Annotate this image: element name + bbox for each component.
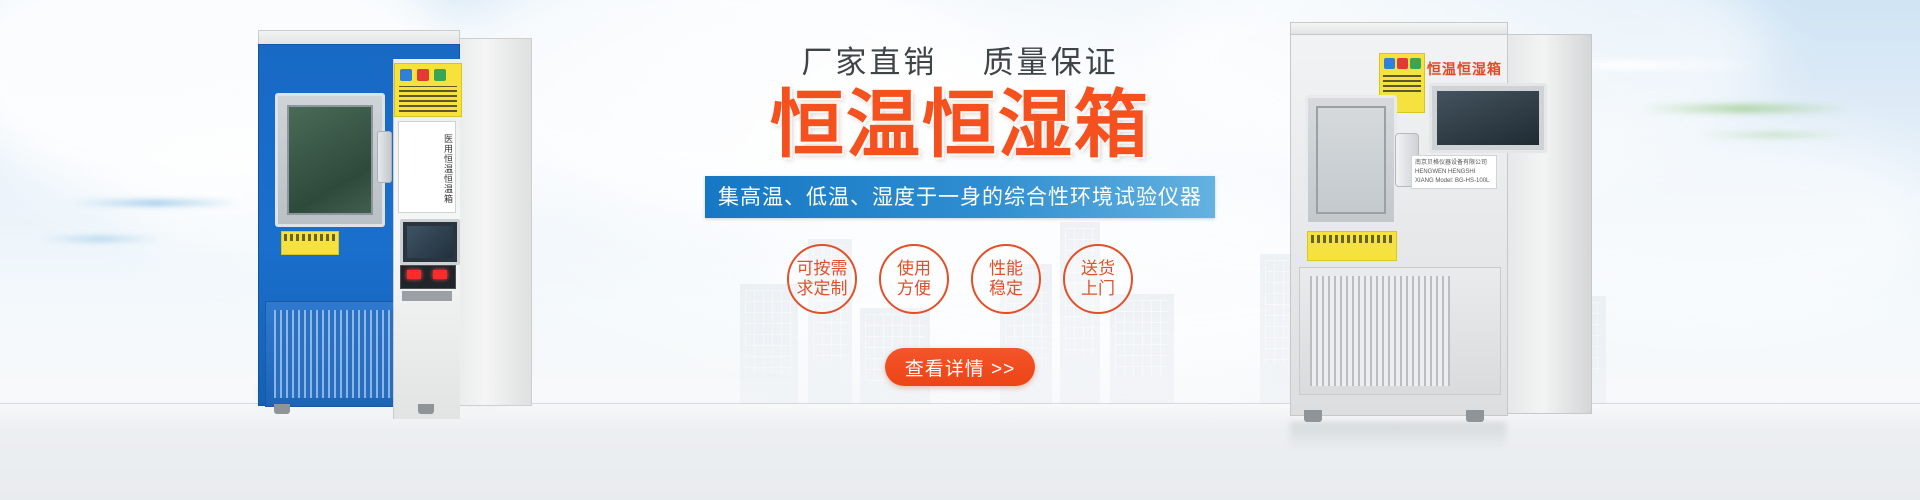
feature-badge[interactable]: 送货 上门 [1063, 244, 1133, 314]
right-machine-brand-label: 恒温恒湿箱 [1427, 59, 1545, 79]
badge-line-2: 上门 [1081, 279, 1115, 299]
left-machine-led-readout [400, 265, 456, 289]
left-machine-body: 医用恒温恒温箱 [258, 44, 460, 406]
wind-streak-decor [70, 200, 240, 206]
badge-line-1: 送货 [1081, 259, 1115, 279]
wind-streak-decor [40, 236, 160, 242]
badge-line-1: 性能 [989, 259, 1023, 279]
feature-badge-list: 可按需 求定制 使用 方便 性能 稳定 送货 上门 [700, 244, 1220, 314]
right-machine-window [1316, 106, 1386, 214]
left-machine-panel-label: 医用恒温恒温箱 [398, 121, 456, 213]
left-machine-footer-label [402, 291, 452, 301]
view-details-button[interactable]: 查看详情 >> [885, 348, 1035, 386]
left-machine-window [287, 105, 373, 215]
left-machine-display-screen [400, 219, 460, 265]
product-image-right: 恒温恒湿箱 南京贝格仪器设备有限公司 HENGWEN HENGSHI XIANG… [1290, 22, 1590, 422]
banner-subtitle: 集高温、低温、湿度于一身的综合性环境试验仪器 [705, 176, 1215, 218]
right-machine-warning-sticker [1307, 231, 1397, 261]
product-image-left: 医用恒温恒温箱 [258, 30, 530, 404]
badge-line-1: 可按需 [797, 259, 848, 279]
right-machine-door [1305, 95, 1397, 225]
badge-line-2: 求定制 [797, 279, 848, 299]
feature-badge[interactable]: 可按需 求定制 [787, 244, 857, 314]
feature-badge[interactable]: 性能 稳定 [971, 244, 1041, 314]
left-machine-warning-sticker [281, 231, 339, 255]
badge-line-1: 使用 [897, 259, 931, 279]
right-machine-body: 恒温恒湿箱 南京贝格仪器设备有限公司 HENGWEN HENGSHI XIANG… [1290, 34, 1508, 416]
right-machine-spec-tag: 南京贝格仪器设备有限公司 HENGWEN HENGSHI XIANG Model… [1411, 155, 1497, 189]
badge-line-2: 稳定 [989, 279, 1023, 299]
kicker-left-text: 厂家直销 [801, 45, 937, 80]
right-machine-lower-unit [1299, 267, 1501, 395]
right-machine-legs [1290, 410, 1506, 422]
left-machine-handle [377, 131, 392, 183]
feature-badge[interactable]: 使用 方便 [879, 244, 949, 314]
left-machine-door [275, 93, 385, 227]
banner-kicker: 厂家直销 质量保证 [700, 46, 1220, 80]
right-machine-vent-grill [1310, 276, 1450, 386]
right-machine-display-screen [1429, 83, 1547, 153]
left-machine-side-cabinet [454, 38, 532, 406]
ground-strip [0, 404, 1920, 500]
left-machine-legs [258, 404, 458, 414]
promo-banner: 医用恒温恒温箱 恒温恒湿箱 南京贝格仪器设备有限公司 HENGWEN [0, 0, 1920, 500]
left-machine-control-panel: 医用恒温恒温箱 [393, 59, 460, 419]
badge-line-2: 方便 [897, 279, 931, 299]
banner-headline: 恒温恒湿箱 [700, 88, 1220, 162]
banner-copy-block: 厂家直销 质量保证 恒温恒湿箱 集高温、低温、湿度于一身的综合性环境试验仪器 可… [700, 46, 1220, 386]
wind-streak-decor [1640, 104, 1850, 113]
hazard-label-icon [394, 63, 462, 117]
kicker-right-text: 质量保证 [983, 45, 1119, 80]
right-machine-reflection [1290, 422, 1506, 450]
wind-streak-decor [1700, 132, 1850, 138]
